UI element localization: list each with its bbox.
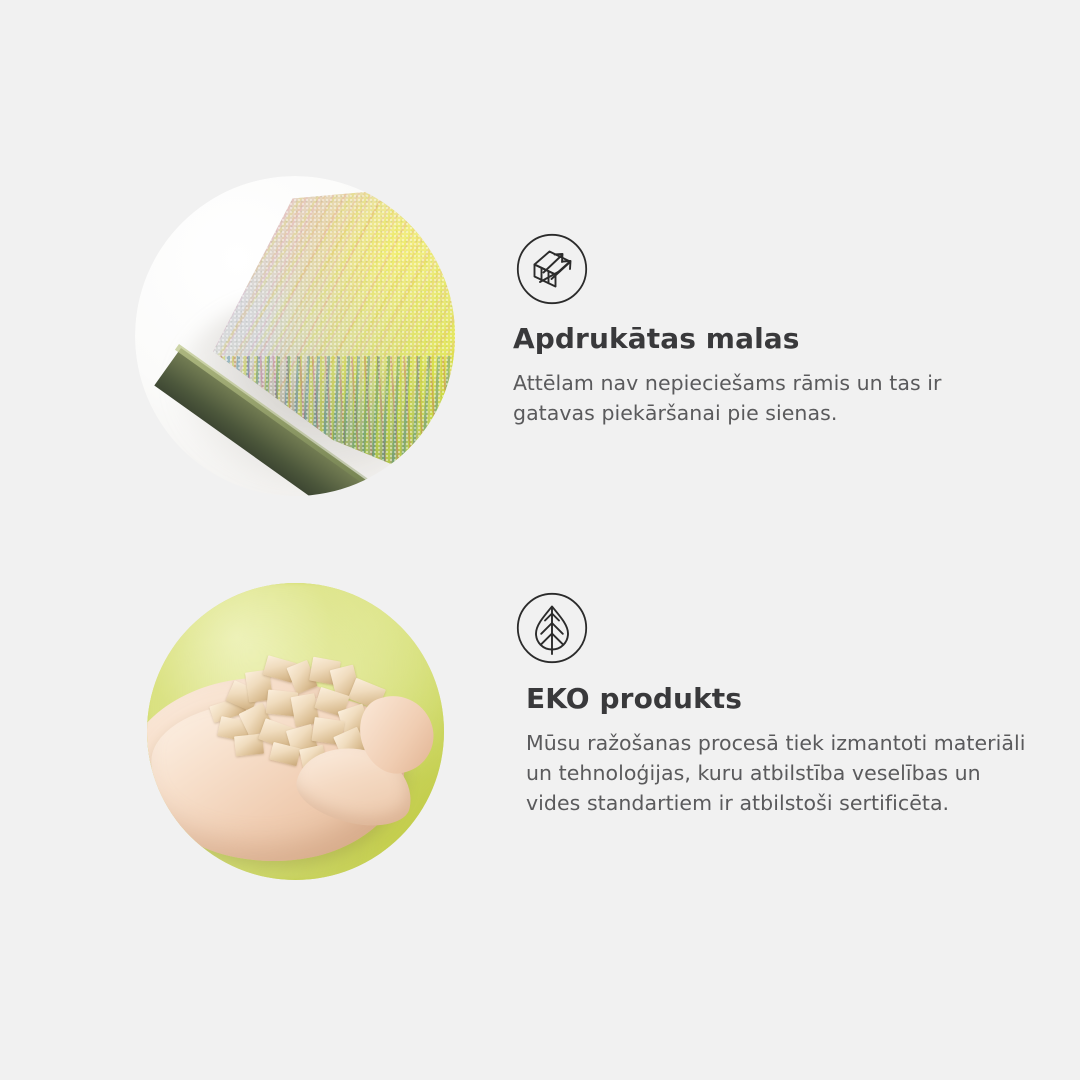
leaf-icon	[516, 592, 588, 664]
printed-edges-icon	[516, 233, 588, 305]
canvas-weave-texture	[177, 182, 455, 482]
canvas-corner-photo	[135, 176, 455, 496]
feature-info-panel: Apdrukātas malas Attēlam nav nepieciešam…	[0, 0, 1080, 1080]
feature-description: Attēlam nav nepieciešams rāmis un tas ir…	[513, 368, 1013, 428]
feature-title: EKO produkts	[526, 682, 742, 715]
feature-title: Apdrukātas malas	[513, 322, 800, 355]
feature-description: Mūsu ražošanas procesā tiek izmantoti ma…	[526, 728, 1026, 818]
canvas-artwork	[135, 176, 455, 496]
canvas-print-face	[177, 182, 455, 482]
wood-chips-in-hands-photo	[147, 583, 444, 880]
